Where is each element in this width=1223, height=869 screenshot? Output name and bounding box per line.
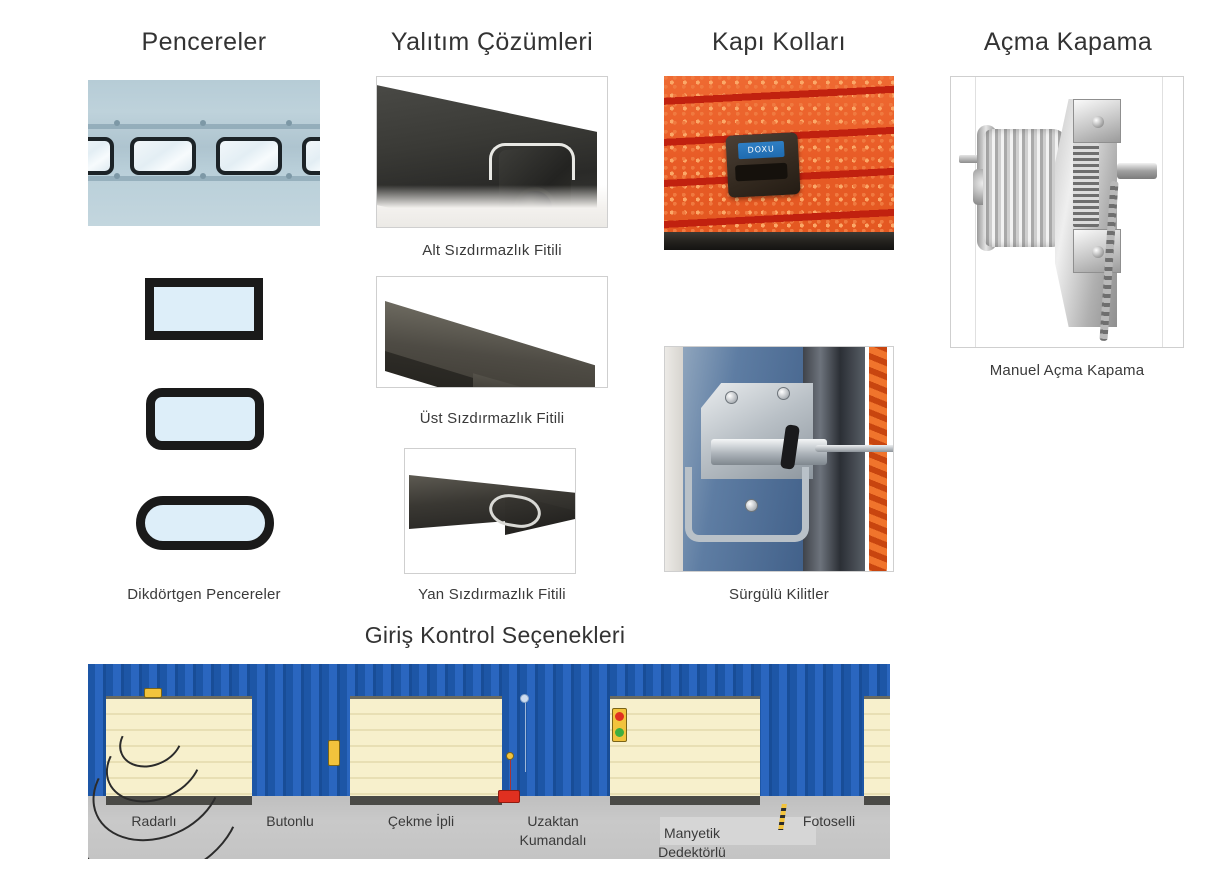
entry-option-label-radarli: Radarlı — [92, 812, 216, 831]
bottom-seal-photo — [376, 76, 608, 228]
window-strip-graphic — [88, 80, 320, 226]
caption-manual-operation: Manuel Açma Kapama — [950, 362, 1184, 379]
sectional-door-2 — [350, 696, 502, 796]
entry-option-label-uzaktan-kumandali: Uzaktan Kumandalı — [488, 812, 618, 850]
column-title-windows: Pencereler — [88, 28, 320, 57]
pull-cord-anchor — [520, 694, 529, 703]
column-title-operation: Açma Kapama — [950, 28, 1186, 57]
pull-cord-rope[interactable] — [525, 700, 526, 772]
entry-control-illustration: Radarlı Butonlu Çekme İpli Uzaktan Kuman… — [88, 664, 890, 859]
entry-option-label-manyetik-dedektorlu: Manyetik Dedektörlü — [624, 824, 760, 859]
caption-rectangular-windows: Dikdörtgen Pencereler — [88, 586, 320, 603]
sectional-door-3 — [610, 696, 760, 796]
traffic-light-green — [615, 728, 624, 737]
chain-hoist-photo — [950, 76, 1184, 348]
traffic-light-red — [615, 712, 624, 721]
window-strip-photo — [88, 80, 320, 226]
column-title-insulation: Yalıtım Çözümleri — [374, 28, 610, 57]
entry-option-line-1: Uzaktan — [527, 813, 578, 829]
column-title-handles: Kapı Kolları — [662, 28, 896, 57]
caption-slide-locks: Sürgülü Kilitler — [664, 586, 894, 603]
top-seal-photo — [376, 276, 608, 388]
entry-option-label-cekme-ipli: Çekme İpli — [356, 812, 486, 831]
handle-grip — [735, 163, 788, 182]
window-shape-rectangular — [145, 278, 263, 340]
section-title-entry-control: Giriş Kontrol Seçenekleri — [330, 622, 660, 649]
recessed-handle: DOXU — [725, 132, 800, 198]
entry-option-line-2: Dedektörlü — [658, 844, 726, 859]
remote-control-unit[interactable] — [498, 790, 520, 803]
poster-root: Pencereler Yalıtım Çözümleri Kapı Kollar… — [0, 0, 1223, 869]
radar-sensor — [144, 688, 162, 698]
caption-top-seal: Üst Sızdırmazlık Fitili — [376, 410, 608, 427]
entry-option-label-butonlu: Butonlu — [228, 812, 352, 831]
window-shape-rounded — [146, 388, 264, 450]
brand-label: DOXU — [738, 141, 785, 159]
window-shape-oval — [136, 496, 274, 550]
entry-option-line-2: Kumandalı — [520, 832, 587, 848]
entry-option-line-1: Manyetik — [664, 825, 720, 841]
remote-antenna — [506, 752, 514, 760]
slide-lock-photo — [664, 346, 894, 572]
push-button-panel[interactable] — [328, 740, 340, 766]
remote-signal-line — [510, 760, 511, 792]
traffic-light — [612, 708, 627, 742]
caption-side-seal: Yan Sızdırmazlık Fitili — [376, 586, 608, 603]
caption-bottom-seal: Alt Sızdırmazlık Fitili — [376, 242, 608, 259]
sectional-door-4 — [864, 696, 890, 796]
side-seal-photo — [404, 448, 576, 574]
door-handle-photo: DOXU — [664, 76, 894, 250]
entry-option-label-fotoselli: Fotoselli — [764, 812, 890, 831]
door-bottom-rail — [664, 232, 894, 250]
